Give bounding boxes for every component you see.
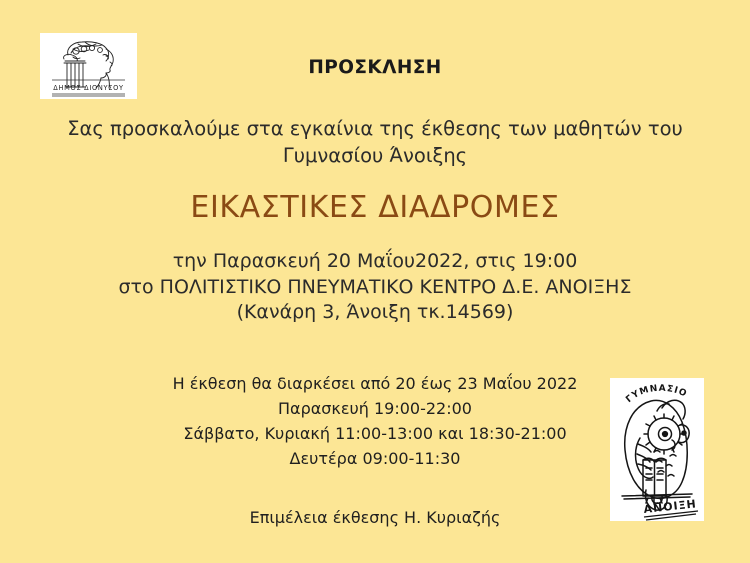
exhibition-schedule: Η έκθεση θα διαρκέσει από 20 έως 23 Μαΐο… (45, 371, 705, 471)
invitation-title: ΠΡΟΣΚΛΗΣΗ (0, 57, 750, 78)
invitation-lead: Σας προσκαλούμε στα εγκαίνια της έκθεσης… (60, 115, 690, 169)
invitation-lead-line-1: Σας προσκαλούμε στα εγκαίνια της έκθεσης… (60, 115, 690, 142)
event-address: (Κανάρη 3, Άνοιξη τκ.14569) (45, 300, 705, 326)
owl-with-book-icon: ΓΥΜΝΑΣΙΟ ΑΝΟΙΞΗΣ (610, 378, 704, 521)
schedule-friday: Παρασκευή 19:00-22:00 (45, 396, 705, 421)
schedule-weekend: Σάββατο, Κυριακή 11:00-13:00 και 18:30-2… (45, 421, 705, 446)
school-emblem: ΓΥΜΝΑΣΙΟ ΑΝΟΙΞΗΣ (610, 378, 704, 521)
schedule-monday: Δευτέρα 09:00-11:30 (45, 446, 705, 471)
municipality-logo-caption: ΔΗΜΟΣ ΔΙΟΝΥΣΟΥ (53, 84, 124, 92)
exhibition-headline: ΕΙΚΑΣΤΙΚΕΣ ΔΙΑΔΡΟΜΕΣ (0, 190, 750, 225)
invitation-lead-line-2: Γυμνασίου Άνοιξης (60, 142, 690, 169)
event-date: την Παρασκευή 20 Μαΐου2022, στις 19:00 (45, 249, 705, 275)
event-venue: στο ΠΟΛΙΤΙΣΤΙΚΟ ΠΝΕΥΜΑΤΙΚΟ ΚΕΝΤΡΟ Δ.Ε. Α… (45, 275, 705, 301)
event-details: την Παρασκευή 20 Μαΐου2022, στις 19:00 σ… (45, 249, 705, 326)
invitation-poster: ΔΗΜΟΣ ΔΙΟΝΥΣΟΥ ΠΡΟΣΚΛΗΣΗ Σας προσκαλούμε… (0, 0, 750, 563)
schedule-duration: Η έκθεση θα διαρκέσει από 20 έως 23 Μαΐο… (45, 371, 705, 396)
